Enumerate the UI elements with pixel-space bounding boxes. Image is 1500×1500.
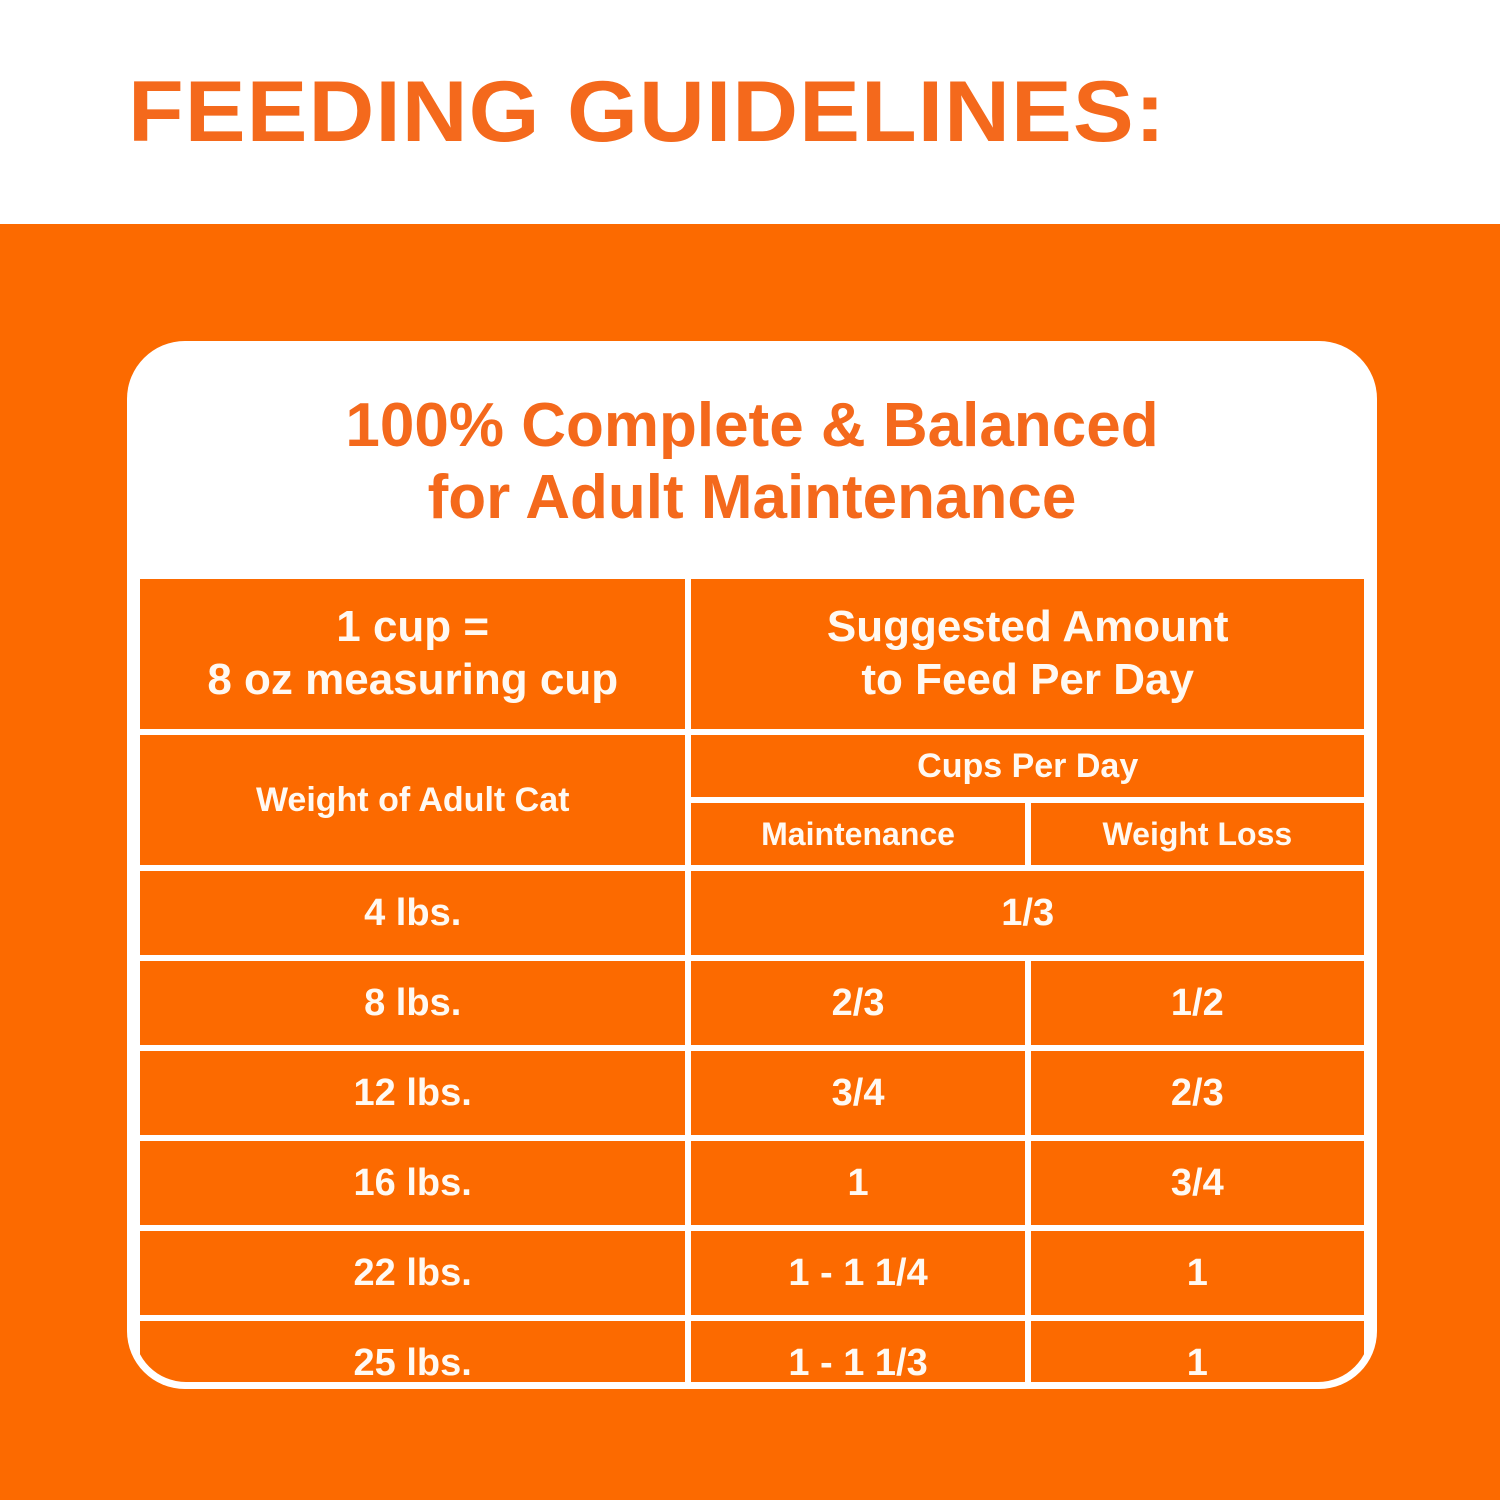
table-row: 12 lbs. 3/4 2/3: [140, 1051, 1364, 1135]
table-header-row-intro: 1 cup = 8 oz measuring cup Suggested Amo…: [140, 579, 1364, 729]
page-banner: FEEDING GUIDELINES:: [0, 0, 1500, 224]
cell-weight-loss: 1: [1031, 1321, 1364, 1382]
header-cup-definition: 1 cup = 8 oz measuring cup: [140, 579, 685, 729]
feeding-table-wrapper: 1 cup = 8 oz measuring cup Suggested Amo…: [134, 573, 1370, 1382]
table-row: 25 lbs. 1 - 1 1/3 1: [140, 1321, 1364, 1382]
table-row: 16 lbs. 1 3/4: [140, 1141, 1364, 1225]
column-header-weight-loss: Weight Loss: [1031, 803, 1364, 865]
cell-weight-loss: 1: [1031, 1231, 1364, 1315]
table-header-row-cups: Weight of Adult Cat Cups Per Day: [140, 735, 1364, 797]
feeding-table: 1 cup = 8 oz measuring cup Suggested Amo…: [134, 573, 1370, 1382]
cell-weight: 12 lbs.: [140, 1051, 685, 1135]
card-inner: 100% Complete & Balanced for Adult Maint…: [134, 348, 1370, 1382]
card-heading: 100% Complete & Balanced for Adult Maint…: [134, 348, 1370, 534]
cell-maintenance: 1 - 1 1/3: [691, 1321, 1024, 1382]
cell-weight: 25 lbs.: [140, 1321, 685, 1382]
header-cup-definition-line-2: 8 oz measuring cup: [140, 654, 685, 707]
header-suggested-amount-line-2: to Feed Per Day: [691, 654, 1364, 707]
cell-weight: 8 lbs.: [140, 961, 685, 1045]
header-suggested-amount: Suggested Amount to Feed Per Day: [691, 579, 1364, 729]
table-row: 4 lbs. 1/3: [140, 871, 1364, 955]
cell-maintenance: 3/4: [691, 1051, 1024, 1135]
cell-weight: 16 lbs.: [140, 1141, 685, 1225]
card-heading-line-1: 100% Complete & Balanced: [134, 390, 1370, 462]
cell-maintenance: 2/3: [691, 961, 1024, 1045]
column-header-weight-of-adult-cat: Weight of Adult Cat: [140, 735, 685, 865]
cell-maintenance: 1 - 1 1/4: [691, 1231, 1024, 1315]
cell-weight-loss: 1/2: [1031, 961, 1364, 1045]
card-heading-line-2: for Adult Maintenance: [134, 462, 1370, 534]
cell-weight-loss: 3/4: [1031, 1141, 1364, 1225]
table-row: 22 lbs. 1 - 1 1/4 1: [140, 1231, 1364, 1315]
cell-maintenance: 1/3: [691, 871, 1364, 955]
table-row: 8 lbs. 2/3 1/2: [140, 961, 1364, 1045]
cell-weight: 4 lbs.: [140, 871, 685, 955]
page-title: FEEDING GUIDELINES:: [128, 69, 1166, 155]
column-header-maintenance: Maintenance: [691, 803, 1024, 865]
header-cup-definition-line-1: 1 cup =: [140, 601, 685, 654]
cell-maintenance: 1: [691, 1141, 1024, 1225]
header-suggested-amount-line-1: Suggested Amount: [691, 601, 1364, 654]
cell-weight-loss: 2/3: [1031, 1051, 1364, 1135]
feeding-guidelines-card: 100% Complete & Balanced for Adult Maint…: [127, 341, 1377, 1389]
cell-weight: 22 lbs.: [140, 1231, 685, 1315]
column-header-cups-per-day: Cups Per Day: [691, 735, 1364, 797]
